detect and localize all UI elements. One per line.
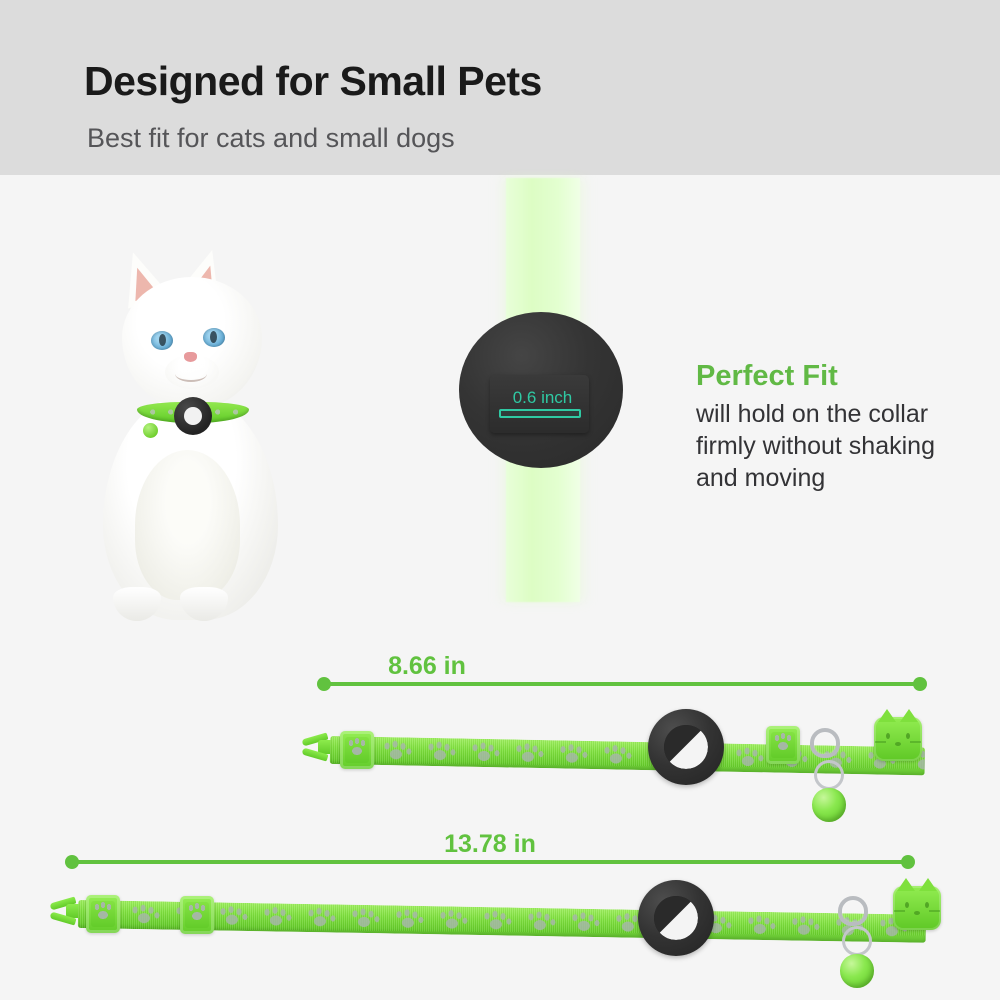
cat-buckle-whisker-right: [929, 910, 940, 912]
measurement-rule: [322, 682, 922, 686]
feature-title: Perfect Fit: [696, 360, 838, 393]
cat-face-buckle-icon: [874, 717, 922, 761]
holder-measurement-label: 0.6 inch: [500, 388, 585, 408]
collar-large: [48, 868, 938, 998]
slider-loop-icon: [766, 726, 800, 764]
measurement-endpoint-left: [317, 677, 331, 691]
page-title: Designed for Small Pets: [84, 58, 542, 105]
measurement-line-large: 13.78 in: [70, 840, 910, 870]
buckle-prong-icon: [302, 732, 332, 762]
cat-buckle-eye-right: [925, 902, 929, 908]
airtag-disc: [654, 896, 698, 940]
feature-body: will hold on the collar firmly without s…: [696, 398, 954, 494]
cat-buckle-eye-left: [905, 902, 909, 908]
cat-photo: [75, 235, 305, 625]
measurement-endpoint-right: [901, 855, 915, 869]
d-ring-icon: [838, 896, 868, 926]
page-subtitle: Best fit for cats and small dogs: [87, 123, 455, 154]
cat-buckle-eye-right: [906, 733, 910, 739]
measurement-endpoint-right: [913, 677, 927, 691]
collar-small: [300, 700, 930, 820]
bell-hanging-ring-icon: [842, 926, 872, 956]
airtag-window: [664, 725, 708, 769]
cat-face-buckle-icon: [893, 886, 941, 930]
slider-loop-icon: [86, 895, 120, 933]
slider-loop-window: [345, 737, 369, 763]
cat-buckle-nose: [895, 742, 901, 746]
cat-pupil-left: [159, 334, 166, 346]
cat-buckle-eye-left: [886, 733, 890, 739]
cat-buckle-ear-right: [919, 878, 937, 891]
cat-paw-left: [113, 587, 161, 621]
bell-icon: [840, 954, 874, 988]
measurement-label-large: 13.78 in: [70, 830, 910, 859]
airtag-disc: [664, 725, 708, 769]
cat-buckle-nose: [914, 911, 920, 915]
cat-chest: [135, 450, 240, 600]
bell-icon: [812, 788, 846, 822]
slider-loop-window: [91, 901, 115, 927]
cat-buckle-whisker-left: [875, 741, 886, 743]
cat-pupil-right: [210, 331, 217, 343]
airtag-window: [654, 896, 698, 940]
buckle-prong-icon: [50, 896, 80, 926]
bell-hanging-ring-icon: [814, 760, 844, 790]
airtag-holder-icon: [638, 880, 714, 956]
cat-mouth: [175, 366, 207, 382]
airtag-holder-icon: [174, 397, 212, 435]
header-banner: Designed for Small Pets Best fit for cat…: [0, 0, 1000, 175]
cat-buckle-whisker-right: [910, 741, 921, 743]
cat-buckle-ear-left: [878, 709, 896, 722]
slider-loop-icon: [340, 731, 374, 769]
airtag-holder-icon: [648, 709, 724, 785]
slider-loop-window: [771, 732, 795, 758]
cat-buckle-ear-left: [897, 878, 915, 891]
holder-measurement-bar: [499, 409, 581, 418]
measurement-label-small: 8.66 in: [227, 652, 627, 681]
measurement-line-small: 8.66 in: [322, 662, 922, 692]
cat-head: [122, 277, 262, 409]
cat-buckle-whisker-left: [894, 910, 905, 912]
measurement-rule: [70, 860, 910, 864]
cat-nose: [184, 352, 197, 362]
slider-loop-icon: [180, 896, 214, 934]
measurement-endpoint-left: [65, 855, 79, 869]
slider-loop-window: [185, 902, 209, 928]
d-ring-icon: [810, 728, 840, 758]
cat-buckle-ear-right: [900, 709, 918, 722]
bell-icon: [143, 423, 158, 438]
